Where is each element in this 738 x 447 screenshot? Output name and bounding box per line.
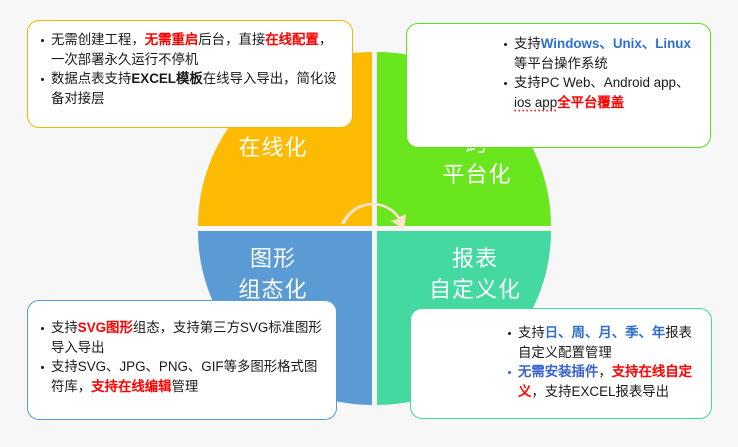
quadrant-label-graphics-configuration-line1: 图形 <box>198 243 348 274</box>
callout-bottom-right: 支持日、周、月、季、年报表自定义配置管理无需安装插件，支持在线自定义，支持EXC… <box>410 308 712 419</box>
quadrant-label-graphics-configuration: 图形 组态化 <box>198 243 348 305</box>
callout-bullet: 支持PC Web、Android app、ios app全平台覆盖 <box>503 73 700 112</box>
callout-text-run: 数据点表支持 <box>51 71 131 86</box>
callout-top-right: 支持Windows、Unix、Linux等平台操作系统支持PC Web、Andr… <box>406 23 711 148</box>
callout-top-left: 无需创建工程，无需重启后台，直接在线配置，一次部署永久运行不停机数据点表支持EX… <box>27 20 353 128</box>
rotation-arrow-bottom-icon <box>341 203 406 229</box>
callout-text-run: 无需重启 <box>145 32 199 47</box>
callout-text-run: 全平台覆盖 <box>557 95 624 110</box>
callout-text-run: ， <box>598 364 611 379</box>
callout-text-run: SVG图形 <box>78 320 133 335</box>
callout-text-run: 支持 <box>51 320 78 335</box>
callout-text-run: ios app <box>514 95 557 112</box>
callout-top-left-list: 无需创建工程，无需重启后台，直接在线配置，一次部署永久运行不停机数据点表支持EX… <box>40 30 342 108</box>
callout-text-run: 支持在线编辑 <box>91 379 171 394</box>
callout-bottom-left: 支持SVG图形组态，支持第三方SVG标准图形导入导出支持SVG、JPG、PNG、… <box>27 300 337 420</box>
quadrant-label-online-line1: 在线化 <box>198 132 348 163</box>
circular-rotation-arrows-icon <box>336 190 414 268</box>
callout-text-run: 支持PC Web、Android app、 <box>514 75 689 90</box>
callout-text-run: Windows、Unix、Linux <box>541 36 691 51</box>
callout-text-run: 日、周、月、季、年 <box>545 325 666 340</box>
infographic-canvas: 在线化 跨 平台化 图形 组态化 报表 自定义化 无需创建工程，无需重启后台，直… <box>0 0 738 447</box>
callout-text-run: 支持 <box>518 325 545 340</box>
quadrant-label-cross-platform-line2: 平台化 <box>402 159 552 190</box>
quadrant-label-report-customization-line1: 报表 <box>400 243 550 274</box>
callout-bullet: 数据点表支持EXCEL模板在线导入导出，简化设备对接层 <box>40 69 342 108</box>
quadrant-label-report-customization-line2: 自定义化 <box>400 274 550 305</box>
quadrant-label-report-customization: 报表 自定义化 <box>400 243 550 305</box>
callout-bullet: 支持Windows、Unix、Linux等平台操作系统 <box>503 34 700 73</box>
callout-bullet: 无需创建工程，无需重启后台，直接在线配置，一次部署永久运行不停机 <box>40 30 342 69</box>
quadrant-label-online: 在线化 <box>198 132 348 163</box>
callout-text-run: 等平台操作系统 <box>514 56 608 71</box>
callout-bullet: 支持SVG、JPG、PNG、GIF等多图形格式图符库，支持在线编辑管理 <box>40 357 326 396</box>
callout-text-run: 无需创建工程， <box>51 32 145 47</box>
callout-text-run: 在线配置 <box>265 32 319 47</box>
callout-text-run: EXCEL模板 <box>131 71 202 86</box>
callout-text-run: 管理 <box>172 379 199 394</box>
callout-text-run: 无需安装插件 <box>518 364 598 379</box>
callout-top-right-list: 支持Windows、Unix、Linux等平台操作系统支持PC Web、Andr… <box>503 34 700 112</box>
callout-text-run: ，支持EXCEL报表导出 <box>531 384 669 399</box>
callout-text-run: 支持 <box>514 36 541 51</box>
callout-bullet: 支持SVG图形组态，支持第三方SVG标准图形导入导出 <box>40 318 326 357</box>
callout-text-run: 后台，直接 <box>198 32 265 47</box>
callout-bottom-right-list: 支持日、周、月、季、年报表自定义配置管理无需安装插件，支持在线自定义，支持EXC… <box>507 323 701 401</box>
callout-bottom-left-list: 支持SVG图形组态，支持第三方SVG标准图形导入导出支持SVG、JPG、PNG、… <box>40 318 326 396</box>
callout-bullet: 无需安装插件，支持在线自定义，支持EXCEL报表导出 <box>507 362 701 401</box>
callout-bullet: 支持日、周、月、季、年报表自定义配置管理 <box>507 323 701 362</box>
